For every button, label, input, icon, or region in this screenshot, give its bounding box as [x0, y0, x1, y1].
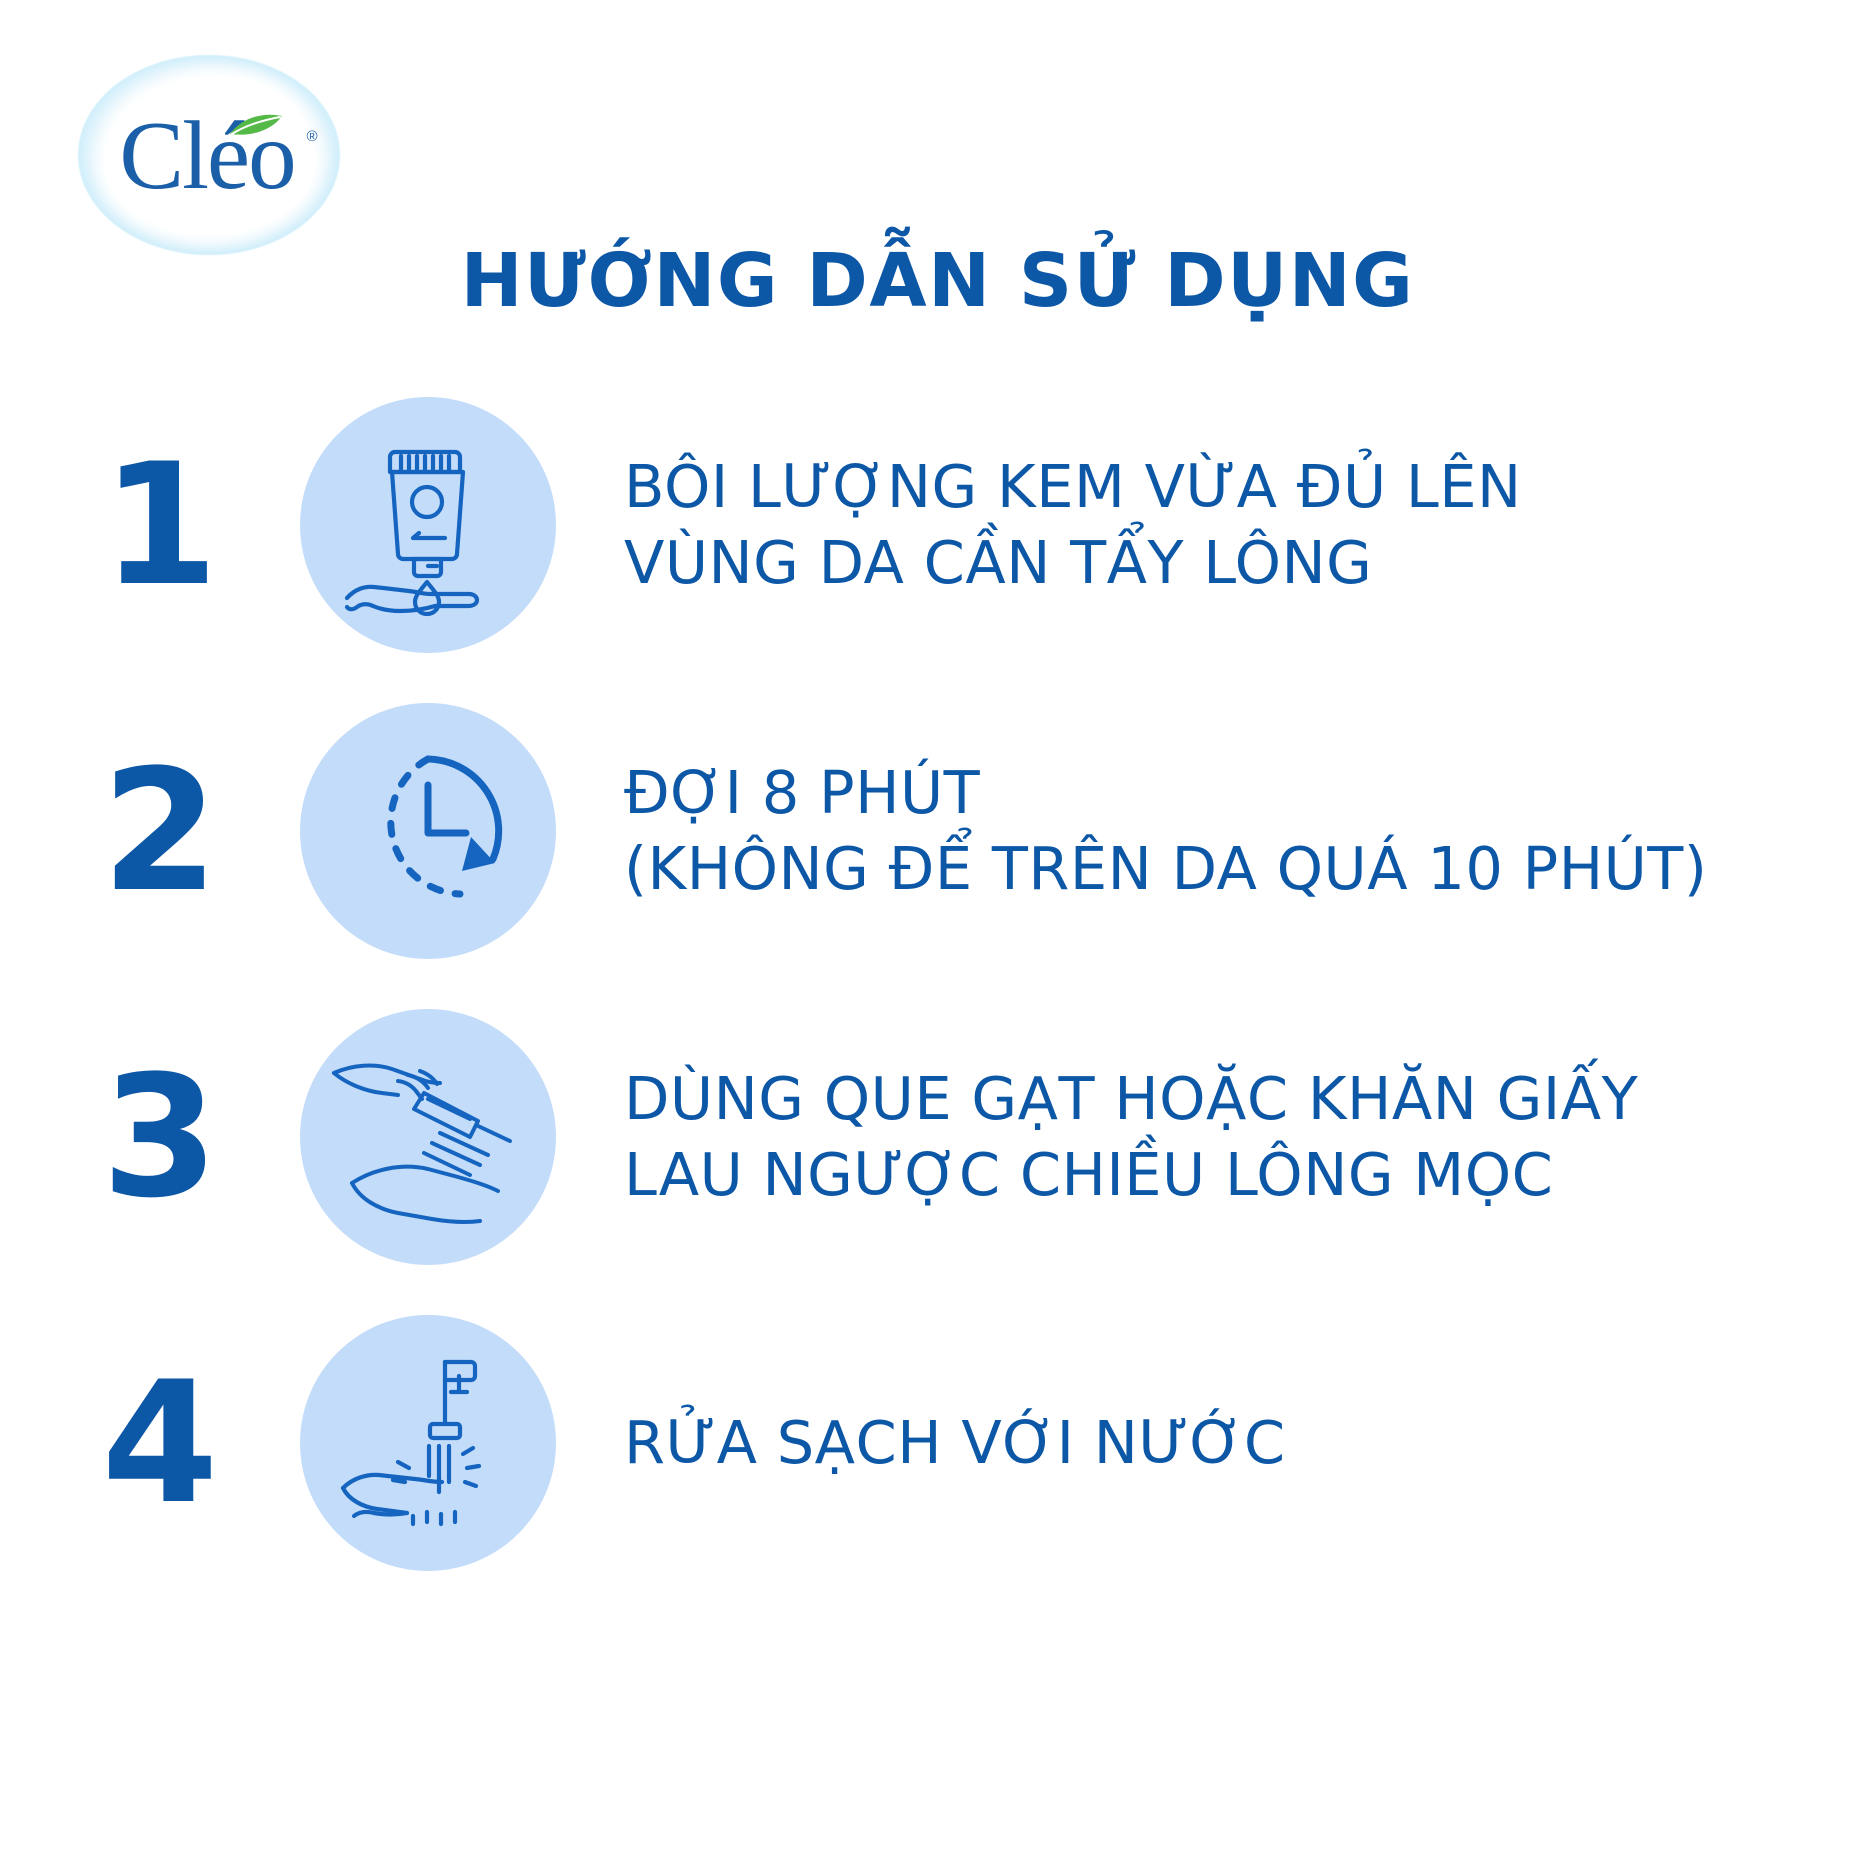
step-text-line: RỬA SẠCH VỚI NƯỚC: [624, 1405, 1286, 1481]
logo-text-group: Cléo ®: [78, 55, 340, 255]
leaf-icon: [228, 114, 284, 137]
step-text-line: VÙNG DA CẦN TẨY LÔNG: [624, 525, 1522, 601]
step-item-2: 2 ĐỢI 8 PHÚT (KHÔNG ĐỂ TRÊN DA QUÁ 10 PH…: [0, 678, 1875, 984]
instruction-steps-list: 1 BÔI LƯỢNG: [0, 372, 1875, 1596]
step-text-line: BÔI LƯỢNG KEM VỪA ĐỦ LÊN: [624, 449, 1522, 525]
step-text-3: DÙNG QUE GẠT HOẶC KHĂN GIẤY LAU NGƯỢC CH…: [624, 1061, 1638, 1212]
step-text-line: DÙNG QUE GẠT HOẶC KHĂN GIẤY: [624, 1061, 1638, 1137]
step-number-4: 4: [0, 1359, 300, 1527]
step-item-4: 4 RỬA SẠCH V: [0, 1290, 1875, 1596]
brand-logo: Cléo ®: [78, 55, 340, 255]
clock-timer-icon: [300, 703, 556, 959]
registered-trademark-icon: ®: [307, 129, 316, 144]
step-number-2: 2: [0, 747, 300, 915]
step-text-1: BÔI LƯỢNG KEM VỪA ĐỦ LÊN VÙNG DA CẦN TẨY…: [624, 449, 1522, 600]
page-title: HƯỚNG DẪN SỬ DỤNG: [0, 238, 1875, 324]
step-text-4: RỬA SẠCH VỚI NƯỚC: [624, 1405, 1286, 1481]
faucet-washing-hand-icon: [300, 1315, 556, 1571]
step-number-3: 3: [0, 1053, 300, 1221]
step-item-3: 3 DÙNG QUE GẠT HOẶC K: [0, 984, 1875, 1290]
step-item-1: 1 BÔI LƯỢNG: [0, 372, 1875, 678]
step-text-line: LAU NGƯỢC CHIỀU LÔNG MỌC: [624, 1137, 1638, 1213]
step-text-line: ĐỢI 8 PHÚT: [624, 755, 1707, 831]
step-text-line: (KHÔNG ĐỂ TRÊN DA QUÁ 10 PHÚT): [624, 831, 1707, 907]
cream-tube-drop-hand-icon: [300, 397, 556, 653]
spatula-scraping-leg-icon: [300, 1009, 556, 1265]
step-text-2: ĐỢI 8 PHÚT (KHÔNG ĐỂ TRÊN DA QUÁ 10 PHÚT…: [624, 755, 1707, 906]
step-number-1: 1: [0, 441, 300, 609]
